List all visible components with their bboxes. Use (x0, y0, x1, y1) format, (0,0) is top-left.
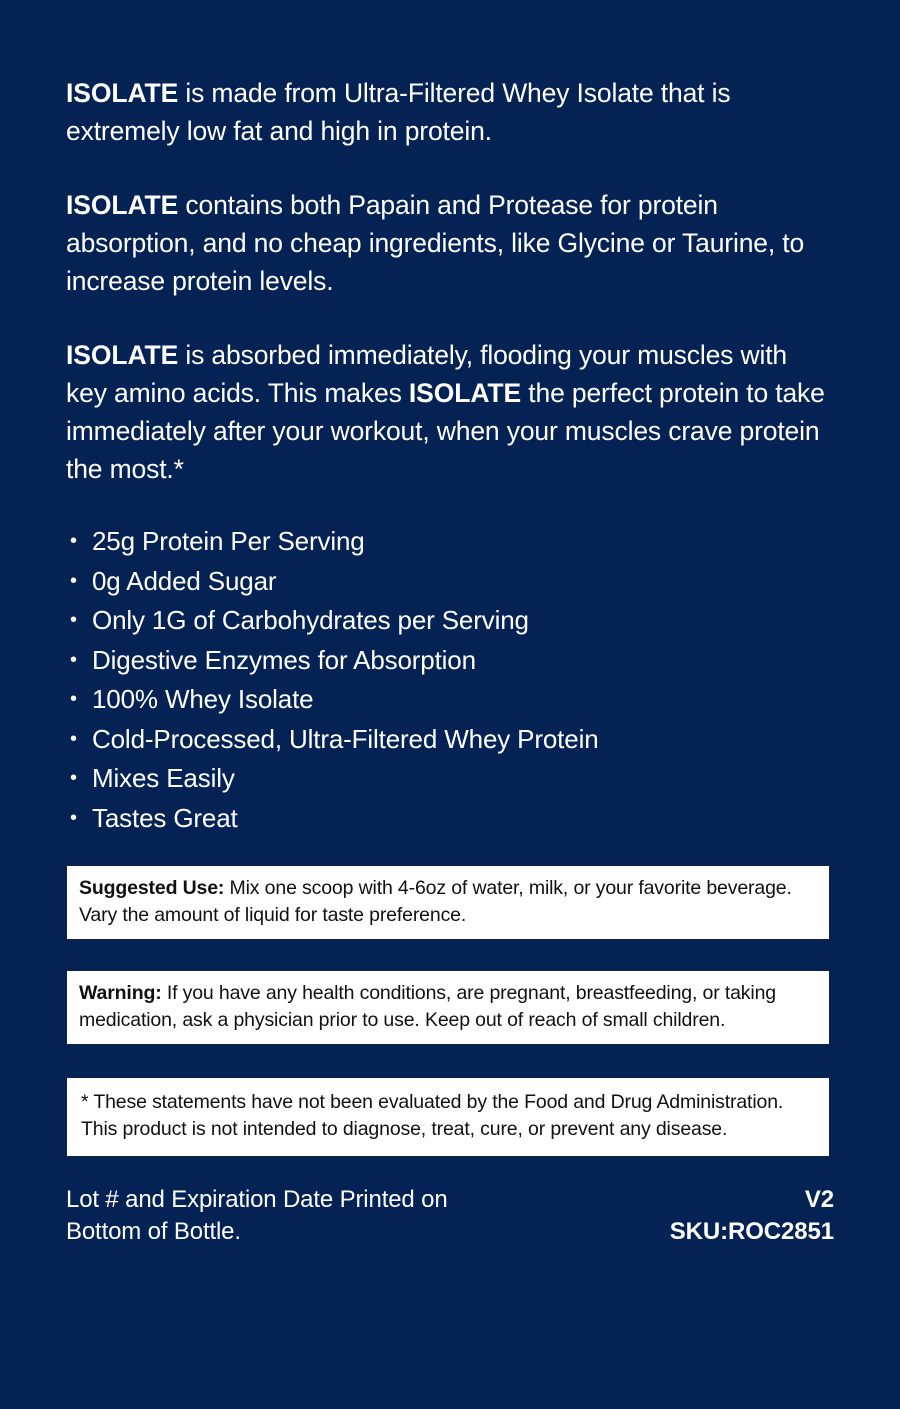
list-item: 0g Added Sugar (66, 562, 834, 602)
paragraph-source: ISOLATE is made from Ultra-Filtered Whey… (66, 74, 834, 150)
list-item: Tastes Great (66, 799, 834, 839)
warning-text: If you have any health conditions, are p… (79, 982, 776, 1031)
suggested-use-box: Suggested Use: Mix one scoop with 4-6oz … (66, 865, 830, 940)
brand-name-isolate: ISOLATE (66, 340, 178, 370)
brand-name-isolate: ISOLATE (66, 78, 178, 108)
sku-code: SKU:ROC2851 (670, 1216, 834, 1248)
lot-expiration-line-2: Bottom of Bottle. (66, 1216, 448, 1248)
list-item: Only 1G of Carbohydrates per Serving (66, 601, 834, 641)
suggested-use-label: Suggested Use: (79, 877, 224, 899)
lot-expiration-line-1: Lot # and Expiration Date Printed on (66, 1184, 448, 1216)
paragraph-absorption: ISOLATE is absorbed immediately, floodin… (66, 336, 834, 488)
intro-copy-section: ISOLATE is made from Ultra-Filtered Whey… (66, 0, 834, 488)
fda-disclaimer-box: * These statements have not been evaluat… (66, 1077, 830, 1157)
brand-name-isolate: ISOLATE (409, 378, 521, 408)
feature-bullet-list: 25g Protein Per Serving 0g Added Sugar O… (66, 522, 834, 838)
fda-disclaimer-text: * These statements have not been evaluat… (81, 1089, 817, 1143)
version-code: V2 (670, 1184, 834, 1216)
label-footer: Lot # and Expiration Date Printed on Bot… (66, 1184, 834, 1248)
warning-box: Warning: If you have any health conditio… (66, 970, 830, 1045)
paragraph-enzymes: ISOLATE contains both Papain and Proteas… (66, 186, 834, 300)
list-item: 100% Whey Isolate (66, 680, 834, 720)
warning-paragraph: Warning: If you have any health conditio… (79, 980, 817, 1034)
warning-label: Warning: (79, 982, 162, 1004)
brand-name-isolate: ISOLATE (66, 190, 178, 220)
list-item: Mixes Easily (66, 759, 834, 799)
suggested-use-paragraph: Suggested Use: Mix one scoop with 4-6oz … (79, 875, 817, 929)
supplement-label-panel: ISOLATE is made from Ultra-Filtered Whey… (0, 0, 900, 1409)
list-item: Cold-Processed, Ultra-Filtered Whey Prot… (66, 720, 834, 760)
version-sku-block: V2 SKU:ROC2851 (670, 1184, 834, 1248)
list-item: 25g Protein Per Serving (66, 522, 834, 562)
lot-expiration-note: Lot # and Expiration Date Printed on Bot… (66, 1184, 448, 1248)
list-item: Digestive Enzymes for Absorption (66, 641, 834, 681)
